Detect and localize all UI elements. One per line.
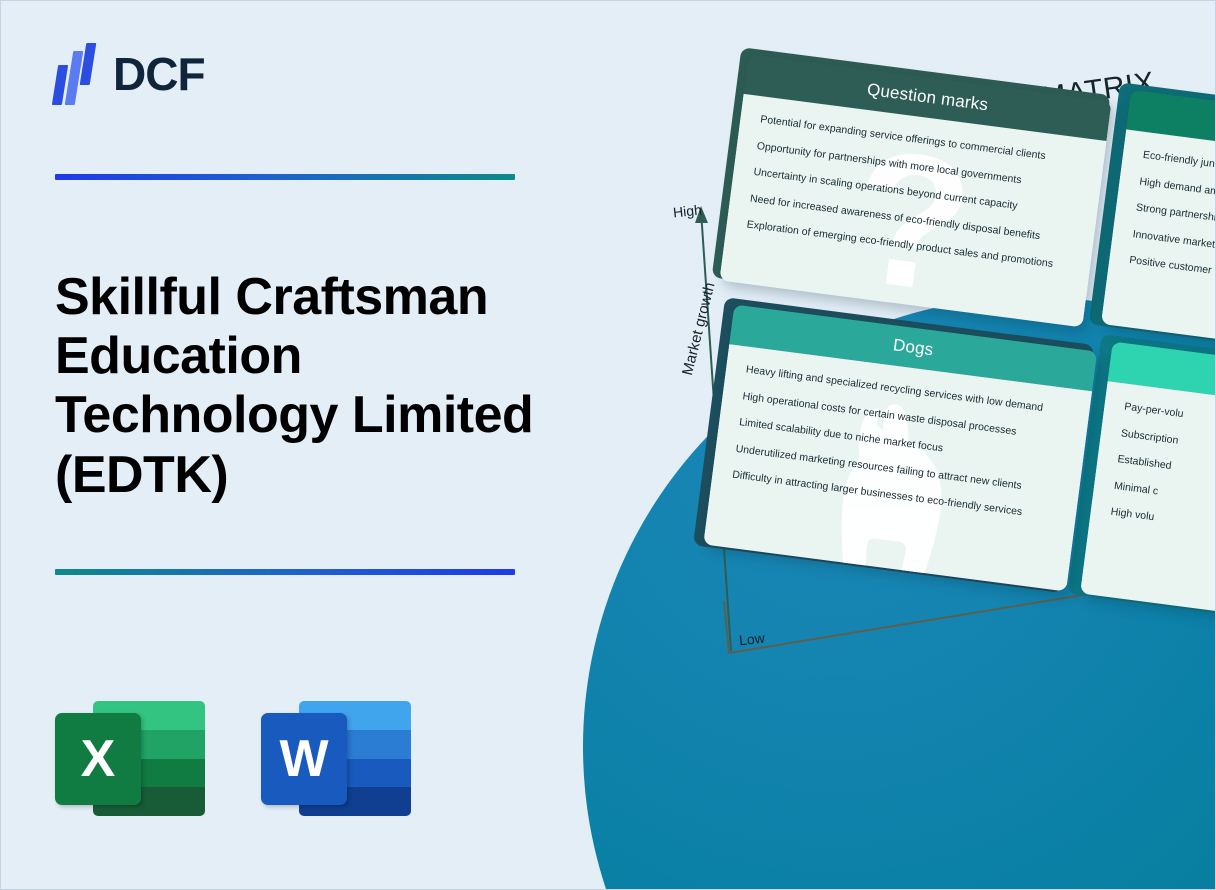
dcf-bars-logo <box>53 43 99 105</box>
poster-canvas: DCF Skillful Craftsman Education Technol… <box>0 0 1216 890</box>
list-item: High volu <box>1110 507 1216 555</box>
divider-bottom <box>55 569 515 575</box>
brand-wordmark: DCF <box>113 51 205 97</box>
excel-tile: X <box>55 713 141 805</box>
list-item: Need for increased awareness of eco-frie… <box>749 193 1074 245</box>
list-item: Underutilized marketing resources failin… <box>735 443 1060 495</box>
list-item: Uncertainty in scaling operations beyond… <box>753 167 1078 219</box>
quadrant-list-cash-cows: Pay-per-volu Subscription Established Mi… <box>1090 381 1216 557</box>
list-item: Positive customer <box>1129 255 1216 303</box>
quadrant-dogs[interactable]: Dogs Heavy lifting and specialized recyc… <box>703 304 1097 591</box>
word-letter: W <box>279 733 328 785</box>
axis-tick-high: High <box>672 202 702 221</box>
excel-letter: X <box>81 733 116 785</box>
brand-logo: DCF <box>53 43 205 105</box>
download-format-icons: X W <box>55 701 411 816</box>
axis-tick-low: Low <box>738 630 765 649</box>
page-title: Skillful Craftsman Education Technology … <box>55 268 585 505</box>
word-tile: W <box>261 713 347 805</box>
matrix-board: Question marks ? Potential for expanding… <box>679 54 1216 680</box>
excel-file-icon[interactable]: X <box>55 701 205 816</box>
bcg-matrix-illustration: High Low Market growth Market share BCG … <box>561 1 1216 890</box>
quadrant-list-stars: Eco-friendly junk remo High demand among… <box>1109 129 1216 305</box>
quadrant-question-marks[interactable]: Question marks ? Potential for expanding… <box>719 54 1111 327</box>
divider-top <box>55 174 515 180</box>
word-file-icon[interactable]: W <box>261 701 411 816</box>
